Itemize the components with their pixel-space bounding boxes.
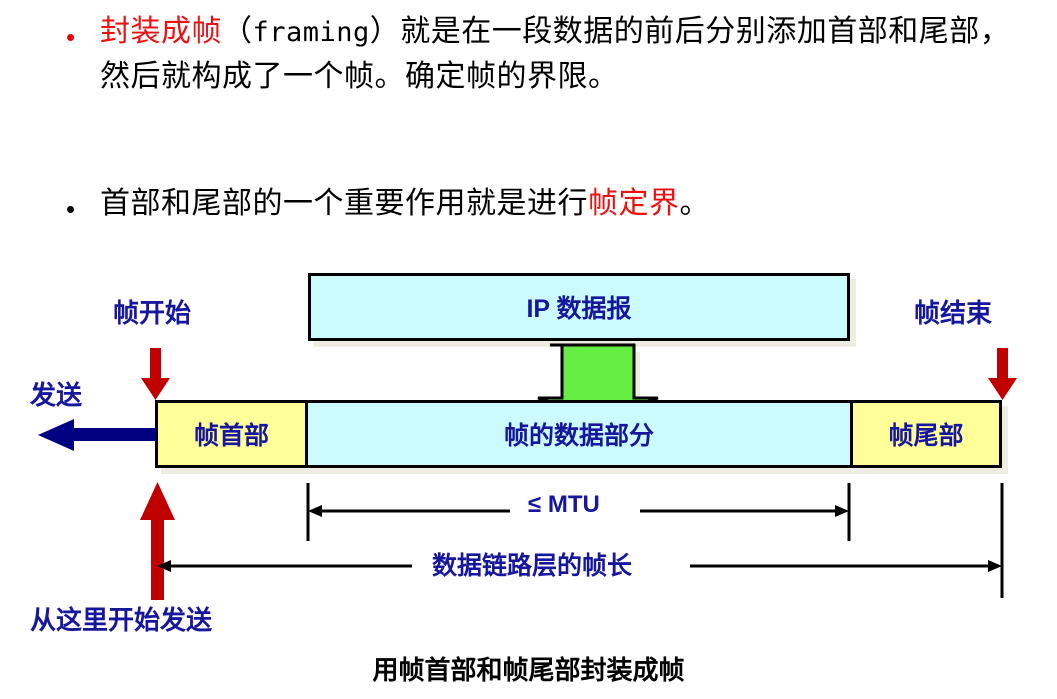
frame-start-label: 帧开始 bbox=[113, 293, 191, 330]
start-here-label: 从这里开始发送 bbox=[30, 600, 212, 637]
frame-data-label: 帧的数据部分 bbox=[504, 416, 654, 452]
frame-data-box: 帧的数据部分 bbox=[305, 400, 853, 468]
send-arrow-left-icon bbox=[38, 419, 156, 451]
start-here-arrow-up-icon bbox=[140, 482, 175, 600]
frame-trailer-box: 帧尾部 bbox=[850, 400, 1002, 468]
frame-length-label: 数据链路层的帧长 bbox=[420, 546, 644, 582]
frame-end-label: 帧结束 bbox=[914, 293, 992, 330]
frame-header-box: 帧首部 bbox=[155, 400, 308, 468]
frame-header-label: 帧首部 bbox=[194, 416, 269, 452]
frame-trailer-label: 帧尾部 bbox=[888, 416, 963, 452]
frame-end-arrow-down-icon bbox=[988, 348, 1017, 400]
ip-datagram-label: IP 数据报 bbox=[526, 289, 631, 325]
framing-diagram: IP 数据报 帧首部 帧的数据部分 帧尾部 bbox=[0, 0, 1057, 699]
send-label: 发送 bbox=[30, 375, 82, 412]
frame-start-arrow-down-icon bbox=[141, 348, 170, 400]
diagram-annotations-layer bbox=[0, 0, 1057, 699]
mtu-label: ≤ MTU bbox=[518, 491, 610, 519]
encapsulate-arrow-layer bbox=[0, 0, 1057, 699]
ip-datagram-box: IP 数据报 bbox=[308, 273, 850, 341]
figure-caption: 用帧首部和帧尾部封装成帧 bbox=[0, 650, 1057, 687]
